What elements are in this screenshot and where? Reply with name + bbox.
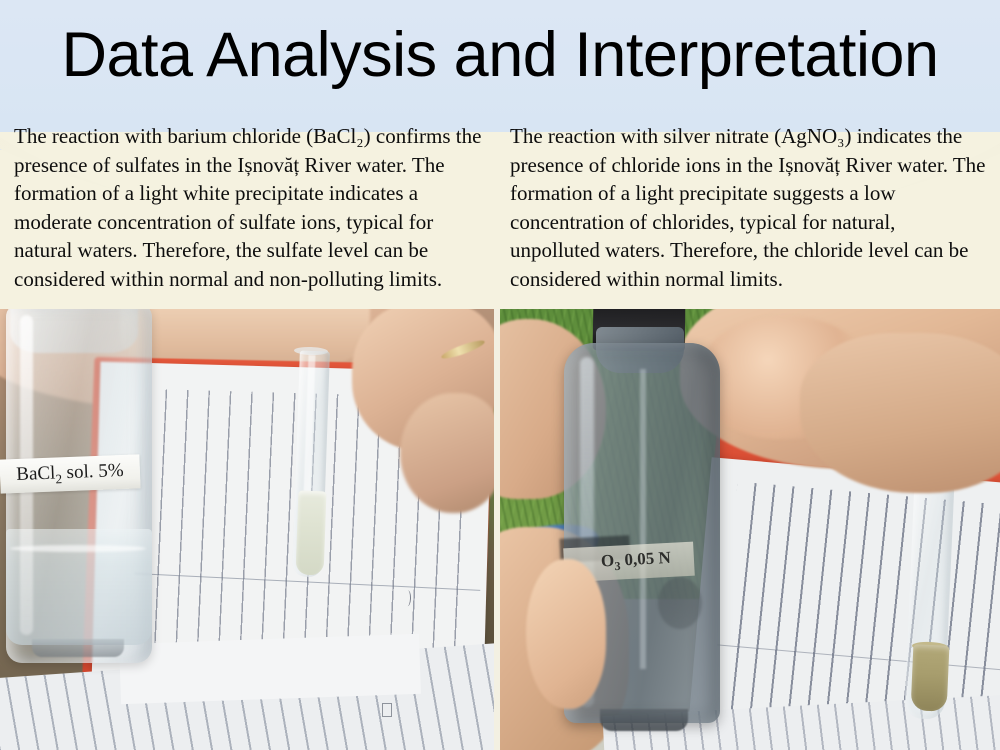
label-formula-rest-right: 0,05 N [620, 548, 671, 570]
photo-left-bottle-base [32, 639, 124, 657]
photo-strip: BaCl2 sol. 5% [0, 309, 1000, 750]
label-formula-main-right: O [601, 551, 615, 571]
paragraph-barium-chloride: The reaction with barium chloride (BaCl₂… [14, 122, 484, 293]
photo-barium-chloride-test: BaCl2 sol. 5% [0, 309, 494, 750]
photo-right-bottle-label-text: O3 0,05 N [601, 548, 672, 575]
photo-right-tan-precipitate [911, 644, 950, 712]
label-formula-main: BaCl [16, 462, 56, 484]
text-columns: The reaction with barium chloride (BaCl₂… [0, 122, 1000, 312]
slide-title: Data Analysis and Interpretation [0, 20, 1000, 91]
photo-left-white-precipitate [296, 491, 327, 576]
photo-left-finger-right-lower [400, 393, 494, 513]
photo-right-bottle-base [600, 709, 688, 731]
photo-right-bottle-highlight-2 [640, 369, 646, 669]
text-column-right: The reaction with silver nitrate (AgNO₃)… [500, 122, 1000, 312]
photo-silver-nitrate-test: O3 0,05 N [500, 309, 1000, 750]
paragraph-silver-nitrate: The reaction with silver nitrate (AgNO₃)… [510, 122, 986, 293]
photo-right-thumb [526, 559, 606, 709]
photo-left-bottle-label: BaCl2 sol. 5% [0, 454, 141, 493]
label-formula-rest: sol. 5% [61, 460, 124, 483]
slide-root: Data Analysis and Interpretation The rea… [0, 0, 1000, 750]
photo-left-notebook-lower-page-2 [119, 634, 421, 704]
photo-right-bottle-spot [658, 577, 702, 629]
text-column-left: The reaction with barium chloride (BaCl₂… [0, 122, 500, 312]
photo-left-bottle-label-text: BaCl2 sol. 5% [16, 460, 124, 489]
photo-left-lower-page-mark [382, 703, 392, 717]
